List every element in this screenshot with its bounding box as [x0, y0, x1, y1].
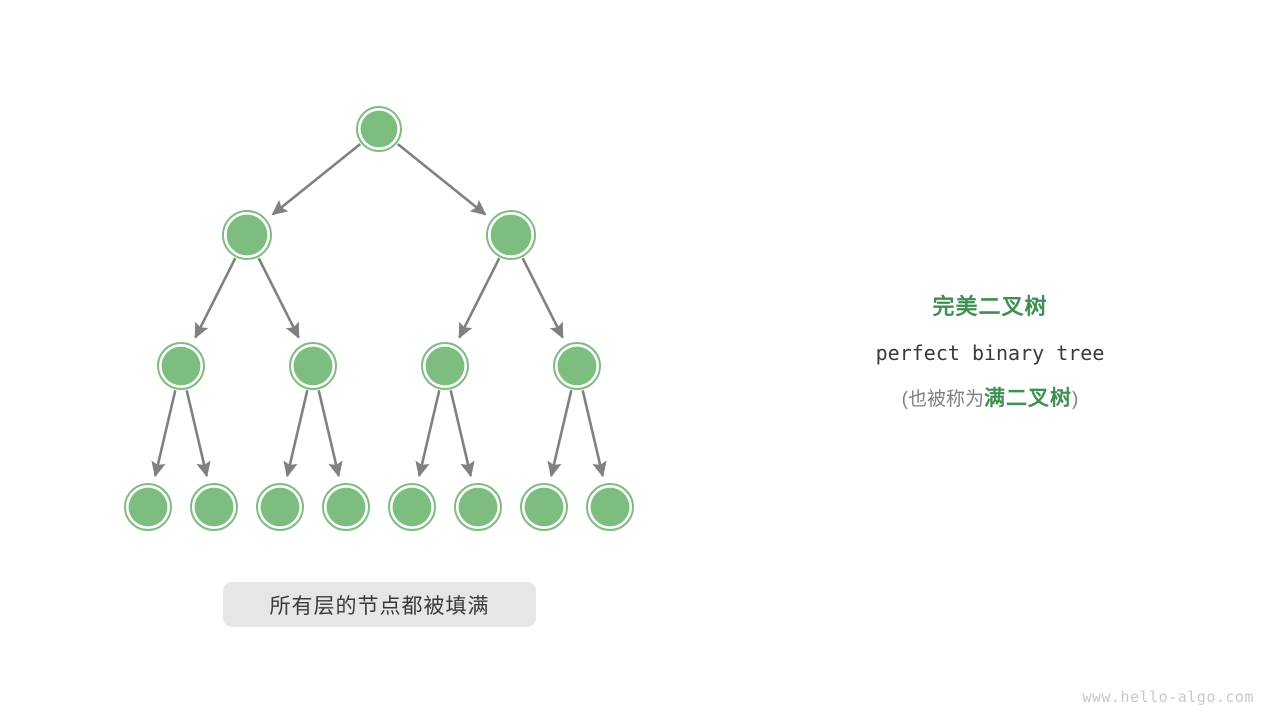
tree-node-fill	[261, 488, 300, 527]
tree-edge	[583, 390, 603, 476]
tree-edge	[451, 390, 471, 476]
tree-edge	[523, 258, 563, 337]
tree-property-badge-label: 所有层的节点都被填满	[270, 590, 490, 620]
tree-edge	[287, 390, 307, 476]
caption-block: 完美二叉树 perfect binary tree (也被称为满二叉树)	[790, 292, 1190, 415]
tree-edge	[398, 144, 486, 214]
tree-node-fill	[426, 347, 465, 386]
tree-node[interactable]	[290, 343, 336, 389]
tree-node-fill	[558, 347, 597, 386]
tree-node-layer	[125, 107, 633, 530]
tree-edge	[419, 390, 439, 476]
tree-node[interactable]	[521, 484, 567, 530]
tree-node-fill	[491, 215, 532, 256]
tree-node-fill	[195, 488, 234, 527]
figure-title-zh: 完美二叉树	[790, 292, 1190, 322]
tree-node-fill	[227, 215, 268, 256]
tree-node-fill	[393, 488, 432, 527]
tree-node-fill	[459, 488, 498, 527]
tree-node-fill	[294, 347, 333, 386]
tree-node[interactable]	[125, 484, 171, 530]
tree-edge	[155, 390, 175, 476]
tree-node[interactable]	[422, 343, 468, 389]
tree-edge	[195, 258, 235, 337]
tree-node[interactable]	[587, 484, 633, 530]
alias-term: 满二叉树	[984, 387, 1072, 410]
tree-node[interactable]	[389, 484, 435, 530]
tree-edge	[459, 258, 499, 337]
figure-title-en: perfect binary tree	[790, 338, 1190, 368]
tree-node-fill	[525, 488, 564, 527]
figure-alias: (也被称为满二叉树)	[790, 384, 1190, 415]
alias-suffix: )	[1072, 389, 1078, 410]
tree-node[interactable]	[323, 484, 369, 530]
tree-node[interactable]	[487, 211, 535, 259]
tree-node-fill	[327, 488, 366, 527]
tree-edge	[187, 390, 207, 476]
tree-node[interactable]	[257, 484, 303, 530]
tree-node-fill	[591, 488, 630, 527]
tree-edge	[319, 390, 339, 476]
tree-edge-layer	[155, 144, 602, 476]
tree-property-badge: 所有层的节点都被填满	[223, 582, 536, 627]
tree-node[interactable]	[191, 484, 237, 530]
tree-node-fill	[162, 347, 201, 386]
tree-node[interactable]	[223, 211, 271, 259]
tree-node-fill	[129, 488, 168, 527]
watermark: www.hello-algo.com	[1082, 688, 1254, 706]
tree-node[interactable]	[554, 343, 600, 389]
alias-prefix: (也被称为	[902, 389, 984, 410]
tree-edge	[273, 144, 361, 214]
tree-node-fill	[361, 111, 398, 148]
tree-edge	[551, 390, 571, 476]
tree-node[interactable]	[158, 343, 204, 389]
tree-edge	[259, 258, 299, 337]
tree-node[interactable]	[455, 484, 501, 530]
tree-node[interactable]	[357, 107, 401, 151]
